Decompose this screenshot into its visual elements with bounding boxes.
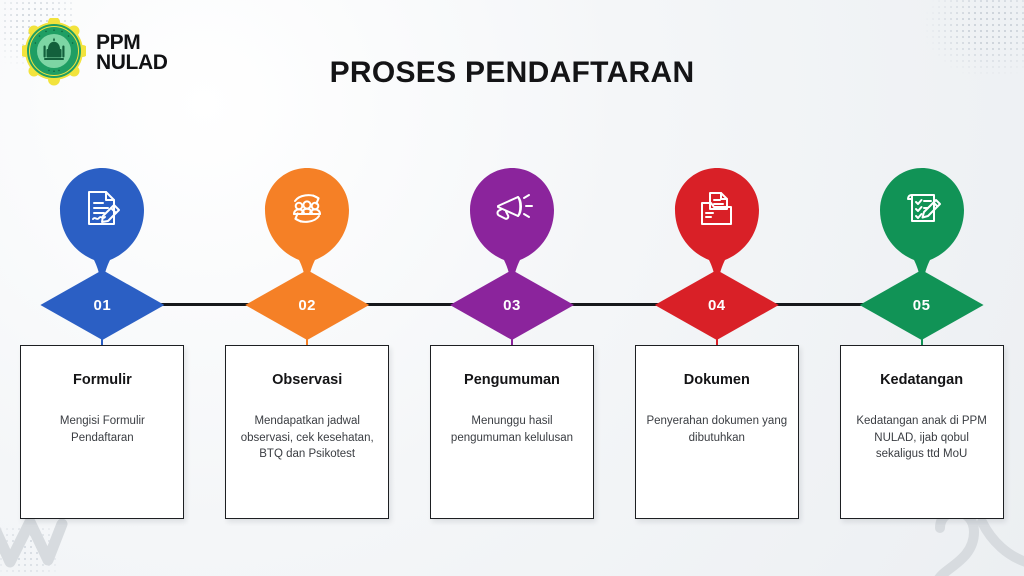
step-card-title-2: Observasi — [236, 372, 378, 389]
slide-canvas: PPM NULAD PROSES PENDAFTARAN — [0, 0, 1024, 576]
megaphone-icon — [488, 184, 536, 232]
step-diamond-2[interactable]: 02 — [245, 270, 369, 340]
slide-header: PPM NULAD PROSES PENDAFTARAN — [0, 0, 1024, 118]
timeline-step-2[interactable]: 02 Observasi Mendapatkan jadwal observas… — [205, 160, 410, 520]
step-card-body-5: Kedatangan anak di PPM NULAD, ijab qobul… — [851, 413, 993, 462]
folder-documents-icon — [693, 184, 741, 232]
step-card-4[interactable]: Dokumen Penyerahan dokumen yang dibutuhk… — [635, 345, 799, 519]
timeline-step-1[interactable]: 01 Formulir Mengisi Formulir Pendaftaran — [0, 160, 205, 520]
step-card-body-1: Mengisi Formulir Pendaftaran — [31, 413, 173, 446]
step-diamond-4[interactable]: 04 — [655, 270, 779, 340]
step-card-body-3: Menunggu hasil pengumuman kelulusan — [441, 413, 583, 446]
step-card-title-4: Dokumen — [646, 372, 788, 389]
step-card-5[interactable]: Kedatangan Kedatangan anak di PPM NULAD,… — [840, 345, 1004, 519]
timeline-steps: 01 Formulir Mengisi Formulir Pendaftaran — [0, 160, 1024, 520]
process-timeline: 01 Formulir Mengisi Formulir Pendaftaran — [0, 160, 1024, 520]
step-card-1[interactable]: Formulir Mengisi Formulir Pendaftaran — [20, 345, 184, 519]
checklist-pencil-icon — [898, 184, 946, 232]
step-number-1: 01 — [40, 270, 164, 340]
step-diamond-3[interactable]: 03 — [450, 270, 574, 340]
step-card-body-4: Penyerahan dokumen yang dibutuhkan — [646, 413, 788, 446]
timeline-step-3[interactable]: 03 Pengumuman Menunggu hasil pengumuman … — [410, 160, 615, 520]
timeline-step-4[interactable]: 04 Dokumen Penyerahan dokumen yang dibut… — [614, 160, 819, 520]
dot-grid-bottom-left — [0, 526, 56, 576]
step-diamond-5[interactable]: 05 — [860, 270, 984, 340]
brand-line-1: PPM — [96, 33, 168, 53]
step-number-2: 02 — [245, 270, 369, 340]
step-card-title-3: Pengumuman — [441, 372, 583, 389]
step-number-3: 03 — [450, 270, 574, 340]
timeline-step-5[interactable]: 05 Kedatangan Kedatangan anak di PPM NUL… — [819, 160, 1024, 520]
page-title: PROSES PENDAFTARAN — [0, 56, 1024, 90]
step-card-body-2: Mendapatkan jadwal observasi, cek keseha… — [236, 413, 378, 462]
step-card-3[interactable]: Pengumuman Menunggu hasil pengumuman kel… — [430, 345, 594, 519]
step-number-4: 04 — [655, 270, 779, 340]
step-diamond-1[interactable]: 01 — [40, 270, 164, 340]
document-pencil-icon — [78, 184, 126, 232]
step-number-5: 05 — [860, 270, 984, 340]
step-card-2[interactable]: Observasi Mendapatkan jadwal observasi, … — [225, 345, 389, 519]
step-card-title-5: Kedatangan — [851, 372, 993, 389]
people-refresh-icon — [283, 184, 331, 232]
step-card-title-1: Formulir — [31, 372, 173, 389]
